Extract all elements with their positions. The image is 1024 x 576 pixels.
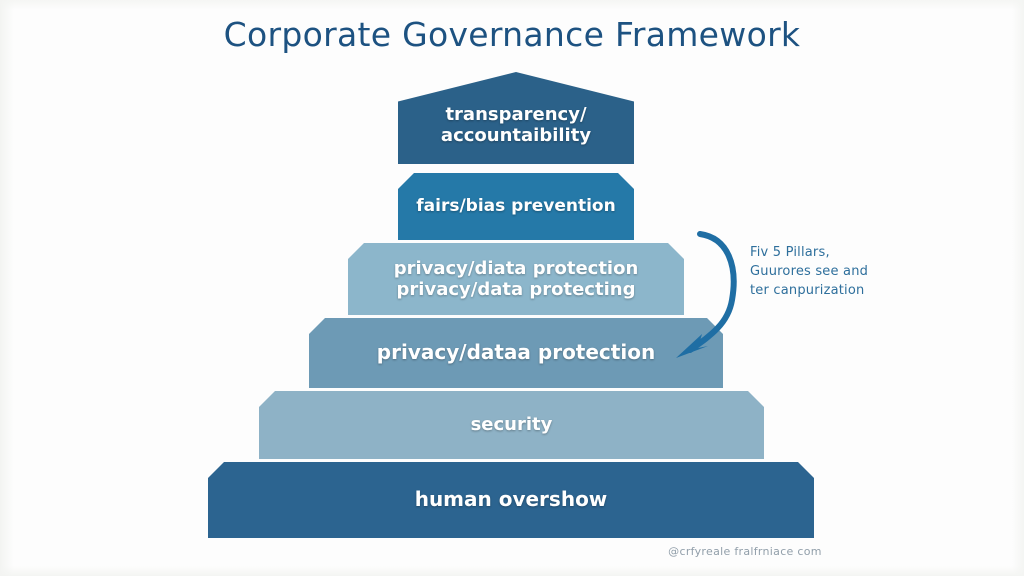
annotation-line-3: ter canpurization — [750, 281, 900, 300]
tier-3-label-line-1: privacy/diata protection — [394, 258, 639, 279]
tier-3-text-block: privacy/diata protection privacy/data pr… — [394, 258, 639, 300]
tier-5-label-line-1: security — [471, 414, 553, 435]
pyramid-tier-fairness-bias-prevention[interactable]: fairs/bias prevention — [398, 173, 634, 240]
tier-6-text-block: human overshow — [415, 488, 608, 512]
tier-3-label-line-2: privacy/data protecting — [394, 279, 639, 300]
tier-4-text-block: privacy/dataa protection — [377, 341, 655, 365]
tier-4-label-line-1: privacy/dataa protection — [377, 341, 655, 365]
pyramid-tier-privacy-data-protection-upper[interactable]: privacy/diata protection privacy/data pr… — [348, 243, 684, 315]
watermark-text: @crfyreale fralfrniace com — [655, 545, 835, 558]
annotation-text: Fiv 5 Pillars, Guurores see and ter canp… — [750, 243, 900, 301]
page-title: Corporate Governance Framework — [0, 15, 1024, 54]
pyramid-tier-transparency-accountability[interactable]: transparency/ accountaibility — [398, 72, 634, 164]
annotation-line-1: Fiv 5 Pillars, — [750, 243, 900, 262]
tier-6-label-line-1: human overshow — [415, 488, 608, 512]
annotation-line-2: Guurores see and — [750, 262, 900, 281]
tier-1-text-block: transparency/ accountaibility — [441, 104, 591, 146]
tier-1-label-line-1: transparency/ — [441, 104, 591, 125]
diagram-canvas: Corporate Governance Framework transpare… — [0, 0, 1024, 576]
pyramid-tier-security[interactable]: security — [259, 391, 764, 459]
pyramid-tier-human-oversight[interactable]: human overshow — [208, 462, 814, 538]
tier-5-text-block: security — [471, 414, 553, 435]
pyramid-tier-privacy-data-protection[interactable]: privacy/dataa protection — [309, 318, 723, 388]
tier-2-text-block: fairs/bias prevention — [416, 196, 615, 216]
tier-2-label-line-1: fairs/bias prevention — [416, 196, 615, 216]
tier-1-label-line-2: accountaibility — [441, 125, 591, 146]
